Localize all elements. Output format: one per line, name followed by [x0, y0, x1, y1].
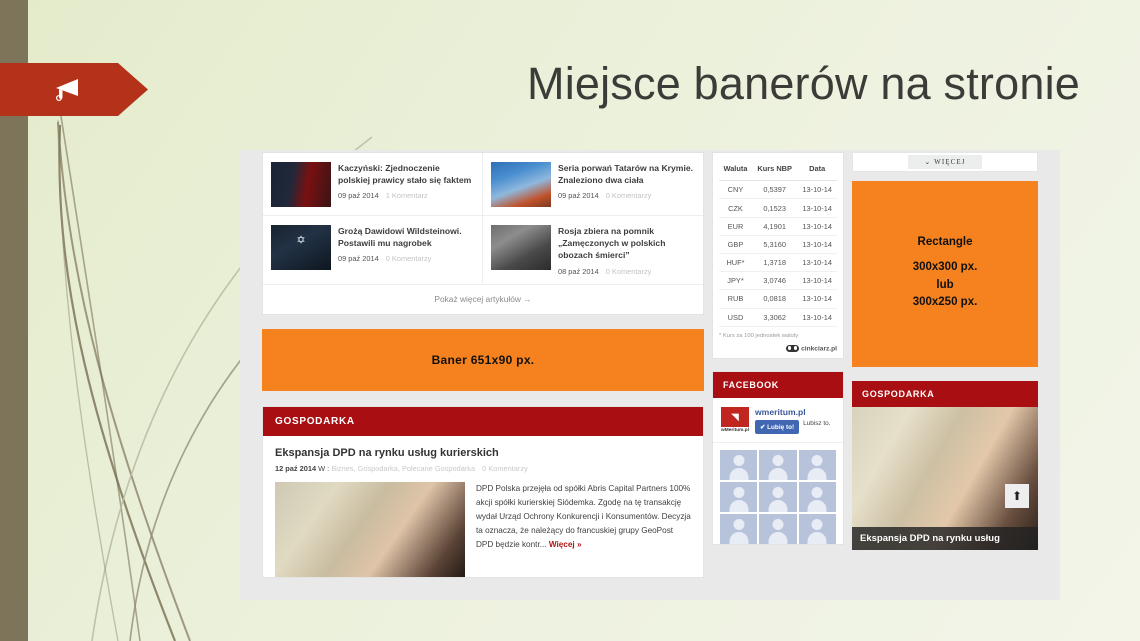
column-header-data: Data [797, 160, 837, 181]
news-item-title[interactable]: Seria porwań Tatarów na Krymie. Znalezio… [558, 162, 695, 186]
table-row: CZK 0,1523 13-10-14 [719, 199, 837, 217]
article-title[interactable]: Ekspansja DPD na rynku usług kurierskich [275, 447, 691, 459]
website-screenshot: Kaczyński: Zjednoczenie polskiej prawicy… [240, 150, 1060, 600]
article-in-label: W : [318, 464, 329, 473]
section-header-gospodarka-sidebar: GOSPODARKA [852, 381, 1038, 407]
currency-note: * Kurs za 100 jednostek waluty [719, 333, 837, 339]
article-excerpt: DPD Polska przejęła od spółki Abris Capi… [476, 482, 691, 577]
avatar[interactable] [759, 450, 796, 480]
cell-currency: CNY [719, 181, 752, 199]
megaphone-icon: ◥ [721, 407, 749, 427]
cinkciarz-mark-icon [786, 345, 799, 352]
economy-sidebar-image[interactable]: ⬆ Ekspansja DPD na rynku usług [852, 407, 1038, 550]
chevron-down-icon: ⌄ [924, 158, 931, 166]
avatar[interactable] [759, 482, 796, 512]
article-categories[interactable]: Biznes, Gospodarka, Polecane Gospodarka [331, 464, 475, 473]
cell-rate: 0,1523 [752, 199, 797, 217]
news-item[interactable]: Rosja zbiera na pomnik „Zamęczonych w po… [483, 216, 703, 285]
middle-sidebar-column: Waluta Kurs NBP Data CNY 0,5397 13-10-14… [712, 152, 844, 545]
currency-rates-widget: Waluta Kurs NBP Data CNY 0,5397 13-10-14… [712, 152, 844, 359]
rectangle-ad-sizes: 300x300 px. lub 300x250 px. [913, 259, 978, 312]
economy-article-box: GOSPODARKA Ekspansja DPD na rynku usług … [262, 406, 704, 578]
news-item-comments[interactable]: 1 Komentarz [386, 191, 428, 200]
cell-rate: 0,5397 [752, 181, 797, 199]
table-row: EUR 4,1901 13-10-14 [719, 217, 837, 235]
facebook-friends-grid [713, 443, 843, 544]
facebook-page-avatar: ◥ wMeritum.pl [721, 407, 749, 434]
table-row: CNY 0,5397 13-10-14 [719, 181, 837, 199]
rectangle-ad-title: Rectangle [918, 236, 973, 248]
cinkciarz-logo[interactable]: cinkciarz.pl [719, 345, 837, 352]
table-header-row: Waluta Kurs NBP Data [719, 160, 837, 181]
table-row: GBP 5,3160 13-10-14 [719, 235, 837, 253]
avatar[interactable] [799, 482, 836, 512]
currency-rates-table: Waluta Kurs NBP Data CNY 0,5397 13-10-14… [719, 160, 837, 327]
article-excerpt-text: DPD Polska przejęła od spółki Abris Capi… [476, 484, 691, 549]
facebook-page-name[interactable]: wmeritum.pl [755, 407, 835, 417]
more-dropdown-button[interactable]: ⌄ WIĘCEJ [908, 155, 981, 169]
cell-rate: 3,3062 [752, 308, 797, 326]
news-item-comments[interactable]: 0 Komentarzy [606, 191, 652, 200]
news-item-title[interactable]: Rosja zbiera na pomnik „Zamęczonych w po… [558, 225, 695, 262]
title-arrow-banner [0, 63, 148, 116]
avatar[interactable] [720, 450, 757, 480]
cell-date: 13-10-14 [797, 308, 837, 326]
cell-currency: RUB [719, 290, 752, 308]
news-item-date: 09 paź 2014 [338, 254, 379, 263]
cell-date: 13-10-14 [797, 235, 837, 253]
read-more-link[interactable]: Więcej » [549, 540, 582, 549]
facebook-like-button[interactable]: ✔ Lubię to! [755, 420, 799, 434]
avatar[interactable] [720, 482, 757, 512]
economy-sidebar-box: GOSPODARKA ⬆ Ekspansja DPD na rynku usłu… [852, 381, 1038, 550]
cell-date: 13-10-14 [797, 254, 837, 272]
news-item-comments[interactable]: 0 Komentarzy [386, 254, 432, 263]
cell-currency: HUF* [719, 254, 752, 272]
table-row: USD 3,3062 13-10-14 [719, 308, 837, 326]
cell-currency: CZK [719, 199, 752, 217]
news-item-title[interactable]: Kaczyński: Zjednoczenie polskiej prawicy… [338, 162, 474, 186]
table-row: JPY* 3,0746 13-10-14 [719, 272, 837, 290]
news-item-date: 09 paź 2014 [558, 191, 599, 200]
news-item[interactable]: Seria porwań Tatarów na Krymie. Znalezio… [483, 153, 703, 216]
news-item-title[interactable]: Grożą Dawidowi Wildsteinowi. Postawili m… [338, 225, 474, 249]
more-dropdown-bar: ⌄ WIĘCEJ [852, 152, 1038, 172]
news-item-comments[interactable]: 0 Komentarzy [606, 267, 652, 276]
section-header-gospodarka: GOSPODARKA [263, 407, 703, 436]
cell-rate: 5,3160 [752, 235, 797, 253]
news-thumbnail [491, 225, 551, 270]
article-comments[interactable]: 0 Komentarzy [482, 464, 528, 473]
cinkciarz-label: cinkciarz.pl [801, 345, 837, 352]
table-row: RUB 0,0818 13-10-14 [719, 290, 837, 308]
news-thumbnail [271, 162, 331, 207]
avatar-caption: wMeritum.pl [721, 428, 749, 433]
show-more-articles-link[interactable]: Pokaż więcej artykułów → [263, 285, 703, 314]
main-content-column: Kaczyński: Zjednoczenie polskiej prawicy… [262, 152, 704, 578]
news-item-date: 09 paź 2014 [338, 191, 379, 200]
cell-date: 13-10-14 [797, 217, 837, 235]
economy-sidebar-caption[interactable]: Ekspansja DPD na rynku usług [852, 527, 1038, 550]
rectangle-banner-ad[interactable]: Rectangle 300x300 px. lub 300x250 px. [852, 181, 1038, 367]
cell-date: 13-10-14 [797, 199, 837, 217]
right-sidebar-column: ⌄ WIĘCEJ Rectangle 300x300 px. lub 300x2… [852, 152, 1038, 550]
news-item[interactable]: Grożą Dawidowi Wildsteinowi. Postawili m… [263, 216, 483, 285]
column-header-kurs-nbp: Kurs NBP [752, 160, 797, 181]
cell-date: 13-10-14 [797, 181, 837, 199]
facebook-like-status: Lubisz to. [803, 420, 830, 428]
avatar[interactable] [759, 514, 796, 544]
cell-currency: JPY* [719, 272, 752, 290]
arrow-up-icon[interactable]: ⬆ [1005, 484, 1029, 508]
cell-rate: 3,0746 [752, 272, 797, 290]
cell-rate: 1,3718 [752, 254, 797, 272]
news-thumbnail [271, 225, 331, 270]
page-title: Miejsce banerów na stronie [420, 58, 1080, 110]
more-dropdown-label: WIĘCEJ [934, 158, 965, 166]
cell-date: 13-10-14 [797, 272, 837, 290]
avatar[interactable] [799, 514, 836, 544]
column-header-waluta: Waluta [719, 160, 752, 181]
facebook-widget-header: FACEBOOK [713, 372, 843, 398]
cell-rate: 0,0818 [752, 290, 797, 308]
avatar[interactable] [799, 450, 836, 480]
cell-date: 13-10-14 [797, 290, 837, 308]
table-row: HUF* 1,3718 13-10-14 [719, 254, 837, 272]
cell-rate: 4,1901 [752, 217, 797, 235]
cell-currency: EUR [719, 217, 752, 235]
leaderboard-banner-ad[interactable]: Baner 651x90 px. [262, 329, 704, 391]
facebook-widget: FACEBOOK ◥ wMeritum.pl wmeritum.pl ✔ Lub… [712, 371, 844, 545]
article-date: 12 paź 2014 [275, 464, 316, 473]
news-item[interactable]: Kaczyński: Zjednoczenie polskiej prawicy… [263, 153, 483, 216]
cell-currency: GBP [719, 235, 752, 253]
avatar[interactable] [720, 514, 757, 544]
news-widget: Kaczyński: Zjednoczenie polskiej prawicy… [262, 152, 704, 315]
article-image [275, 482, 465, 577]
cell-currency: USD [719, 308, 752, 326]
news-thumbnail [491, 162, 551, 207]
news-item-date: 08 paź 2014 [558, 267, 599, 276]
